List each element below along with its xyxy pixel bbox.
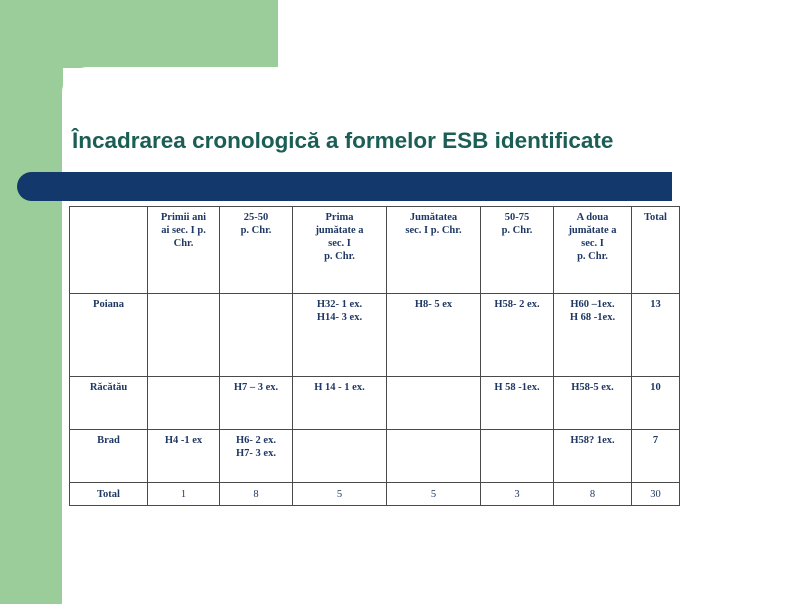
table-cell: H32- 1 ex.H14- 3 ex. (293, 294, 387, 377)
header-text-line: A doua (557, 211, 628, 224)
table-cell: H6- 2 ex.H7- 3 ex. (220, 430, 293, 483)
total-value-cell: 3 (481, 483, 554, 506)
header-text-line: Total (635, 211, 676, 224)
table-cell (293, 430, 387, 483)
table-cell (148, 294, 220, 377)
table-cell: H8- 5 ex (387, 294, 481, 377)
header-text-line: jumătate a (557, 224, 628, 237)
total-value-cell: 5 (293, 483, 387, 506)
table-cell: H58-5 ex. (554, 377, 632, 430)
row-label-cell: Brad (70, 430, 148, 483)
table-cell: H4 -1 ex (148, 430, 220, 483)
header-text-line: sec. I (296, 237, 383, 250)
green-decoration-strip (0, 68, 63, 604)
header-text-line: 50-75 (484, 211, 550, 224)
cell-text-line: 13 (635, 298, 676, 311)
table-cell: H60 –1ex.H 68 -1ex. (554, 294, 632, 377)
cell-text-line: H58-5 ex. (557, 381, 628, 394)
slide: Încadrarea cronologică a formelor ESB id… (0, 0, 800, 604)
header-text-line: p. Chr. (484, 224, 550, 237)
green-decoration-block (0, 0, 278, 68)
table-header-cell: Jumătateasec. I p. Chr. (387, 207, 481, 294)
row-label-cell: Poiana (70, 294, 148, 377)
table-row: BradH4 -1 exH6- 2 ex.H7- 3 ex.H58? 1ex.7 (70, 430, 680, 483)
table-cell: H58- 2 ex. (481, 294, 554, 377)
table-header-cell: Total (632, 207, 680, 294)
cell-text-line: H32- 1 ex. (296, 298, 383, 311)
table-header-cell: A douajumătate asec. Ip. Chr. (554, 207, 632, 294)
header-text-line: p. Chr. (296, 250, 383, 263)
cell-text-line: H14- 3 ex. (296, 311, 383, 324)
table-cell: H 14 - 1 ex. (293, 377, 387, 430)
chronology-table: Primii aniai sec. I p.Chr.25-50p. Chr.Pr… (69, 206, 680, 506)
total-value-cell: 1 (148, 483, 220, 506)
table-cell: H7 – 3 ex. (220, 377, 293, 430)
table-cell (481, 430, 554, 483)
cell-text-line: H 68 -1ex. (557, 311, 628, 324)
table-cell (387, 377, 481, 430)
header-text-line: 25-50 (223, 211, 289, 224)
page-title: Încadrarea cronologică a formelor ESB id… (72, 128, 712, 154)
cell-text-line: H4 -1 ex (151, 434, 216, 447)
table-header-cell: 50-75p. Chr. (481, 207, 554, 294)
header-text-line: ai sec. I p. (151, 224, 216, 237)
table-cell: 7 (632, 430, 680, 483)
total-value-cell: 30 (632, 483, 680, 506)
table-cell: 10 (632, 377, 680, 430)
table-cell (148, 377, 220, 430)
header-text-line: sec. I (557, 237, 628, 250)
cell-text-line: 10 (635, 381, 676, 394)
header-text-line: p. Chr. (557, 250, 628, 263)
table-header-cell: Primii aniai sec. I p.Chr. (148, 207, 220, 294)
total-value-cell: 8 (554, 483, 632, 506)
cell-text-line: H 58 -1ex. (484, 381, 550, 394)
header-text-line: jumătate a (296, 224, 383, 237)
total-value-cell: 8 (220, 483, 293, 506)
table-total-row: Total18553830 (70, 483, 680, 506)
chronology-table-container: Primii aniai sec. I p.Chr.25-50p. Chr.Pr… (69, 206, 679, 506)
header-text-line: Chr. (151, 237, 216, 250)
cell-text-line: H6- 2 ex. (223, 434, 289, 447)
table-header-cell: Primajumătate asec. Ip. Chr. (293, 207, 387, 294)
table-cell (387, 430, 481, 483)
header-text-line: p. Chr. (223, 224, 289, 237)
table-row: RăcătăuH7 – 3 ex.H 14 - 1 ex.H 58 -1ex.H… (70, 377, 680, 430)
table-header-cell: 25-50p. Chr. (220, 207, 293, 294)
row-label-cell: Răcătău (70, 377, 148, 430)
table-cell: H58? 1ex. (554, 430, 632, 483)
table-cell: 13 (632, 294, 680, 377)
header-text-line: Prima (296, 211, 383, 224)
header-text-line: sec. I p. Chr. (390, 224, 477, 237)
cell-text-line: H7- 3 ex. (223, 447, 289, 460)
table-header-row: Primii aniai sec. I p.Chr.25-50p. Chr.Pr… (70, 207, 680, 294)
cell-text-line: 7 (635, 434, 676, 447)
table-row: PoianaH32- 1 ex.H14- 3 ex.H8- 5 exH58- 2… (70, 294, 680, 377)
header-text-line: Primii ani (151, 211, 216, 224)
total-label-cell: Total (70, 483, 148, 506)
cell-text-line: H7 – 3 ex. (223, 381, 289, 394)
table-cell (220, 294, 293, 377)
table-header-cell (70, 207, 148, 294)
navy-accent-bar (17, 172, 672, 201)
cell-text-line: H8- 5 ex (390, 298, 477, 311)
cell-text-line: H58- 2 ex. (484, 298, 550, 311)
table-cell: H 58 -1ex. (481, 377, 554, 430)
header-text-line: Jumătatea (390, 211, 477, 224)
cell-text-line: H 14 - 1 ex. (296, 381, 383, 394)
total-value-cell: 5 (387, 483, 481, 506)
cell-text-line: H58? 1ex. (557, 434, 628, 447)
cell-text-line: H60 –1ex. (557, 298, 628, 311)
